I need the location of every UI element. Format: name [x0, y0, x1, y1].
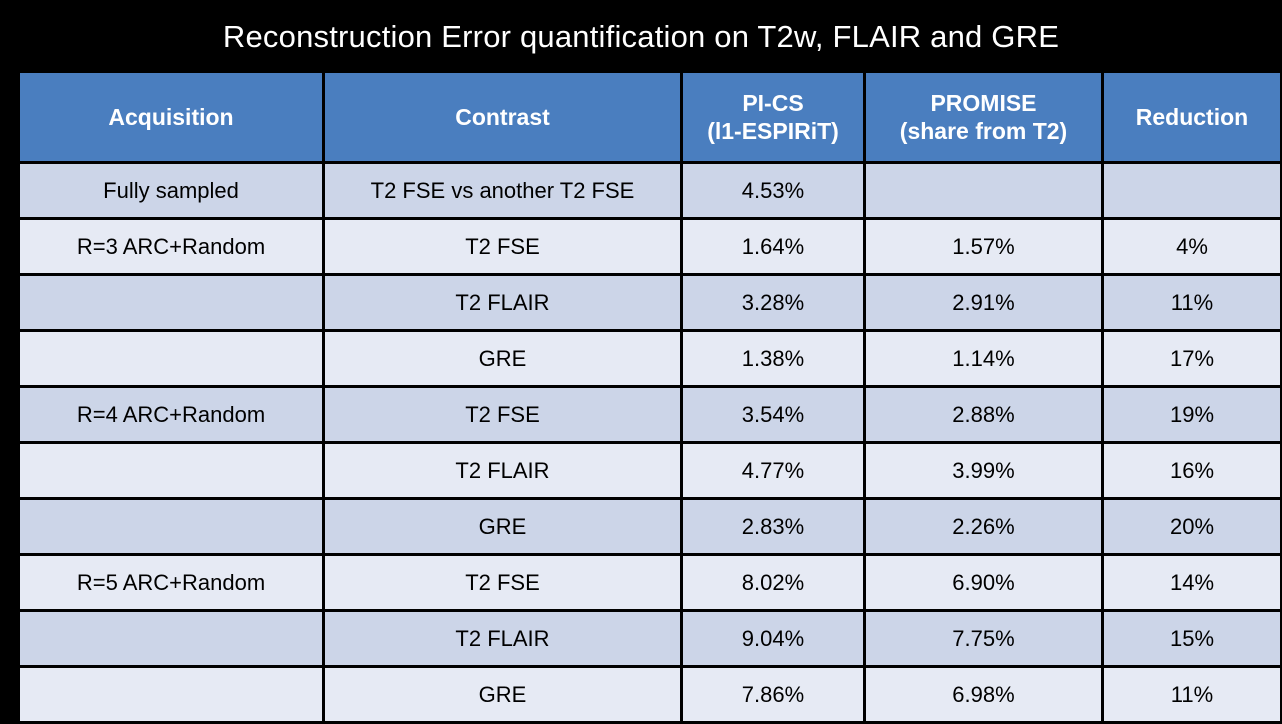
cell-reduction: 14%	[1104, 556, 1280, 609]
column-header-acquisition[interactable]: Acquisition	[20, 73, 322, 161]
column-header-promise-label: PROMISE	[930, 90, 1036, 116]
results-table-container: Acquisition Contrast PI-CS (l1-ESPIRiT) …	[20, 73, 1268, 693]
cell-contrast: T2 FSE	[325, 556, 680, 609]
cell-promise: 7.75%	[866, 612, 1101, 665]
cell-contrast: GRE	[325, 668, 680, 721]
cell-acquisition	[20, 444, 322, 497]
table-row[interactable]: R=4 ARC+Random T2 FSE 3.54% 2.88% 19%	[20, 388, 1280, 441]
table-body: Fully sampled T2 FSE vs another T2 FSE 4…	[20, 164, 1280, 721]
column-header-reduction-label: Reduction	[1136, 104, 1248, 130]
column-header-pics[interactable]: PI-CS (l1-ESPIRiT)	[683, 73, 863, 161]
cell-reduction	[1104, 164, 1280, 217]
cell-reduction: 19%	[1104, 388, 1280, 441]
table-row[interactable]: Fully sampled T2 FSE vs another T2 FSE 4…	[20, 164, 1280, 217]
cell-acquisition	[20, 332, 322, 385]
cell-pics: 7.86%	[683, 668, 863, 721]
table-row[interactable]: T2 FLAIR 9.04% 7.75% 15%	[20, 612, 1280, 665]
cell-reduction: 11%	[1104, 276, 1280, 329]
column-header-reduction[interactable]: Reduction	[1104, 73, 1280, 161]
table-row[interactable]: GRE 2.83% 2.26% 20%	[20, 500, 1280, 553]
cell-acquisition	[20, 276, 322, 329]
cell-acquisition	[20, 500, 322, 553]
cell-contrast: GRE	[325, 332, 680, 385]
column-header-contrast-label: Contrast	[455, 104, 550, 130]
cell-promise: 1.57%	[866, 220, 1101, 273]
cell-promise: 2.88%	[866, 388, 1101, 441]
table-row[interactable]: R=3 ARC+Random T2 FSE 1.64% 1.57% 4%	[20, 220, 1280, 273]
cell-pics: 1.38%	[683, 332, 863, 385]
column-header-promise[interactable]: PROMISE (share from T2)	[866, 73, 1101, 161]
page-title: Reconstruction Error quantification on T…	[0, 18, 1282, 56]
cell-contrast: T2 FLAIR	[325, 444, 680, 497]
cell-acquisition: Fully sampled	[20, 164, 322, 217]
cell-promise: 2.91%	[866, 276, 1101, 329]
column-header-pics-label: PI-CS	[742, 90, 803, 116]
column-header-acquisition-label: Acquisition	[108, 104, 233, 130]
cell-contrast: T2 FSE	[325, 388, 680, 441]
table-row[interactable]: GRE 7.86% 6.98% 11%	[20, 668, 1280, 721]
cell-contrast: T2 FLAIR	[325, 276, 680, 329]
table-row[interactable]: R=5 ARC+Random T2 FSE 8.02% 6.90% 14%	[20, 556, 1280, 609]
cell-promise: 2.26%	[866, 500, 1101, 553]
cell-reduction: 11%	[1104, 668, 1280, 721]
cell-pics: 4.53%	[683, 164, 863, 217]
cell-acquisition	[20, 668, 322, 721]
slide: Reconstruction Error quantification on T…	[0, 0, 1282, 703]
cell-pics: 3.54%	[683, 388, 863, 441]
table-row[interactable]: GRE 1.38% 1.14% 17%	[20, 332, 1280, 385]
table-row[interactable]: T2 FLAIR 4.77% 3.99% 16%	[20, 444, 1280, 497]
column-header-promise-sublabel: (share from T2)	[872, 117, 1095, 145]
cell-pics: 4.77%	[683, 444, 863, 497]
table-header-row: Acquisition Contrast PI-CS (l1-ESPIRiT) …	[20, 73, 1280, 161]
results-table: Acquisition Contrast PI-CS (l1-ESPIRiT) …	[17, 70, 1282, 724]
cell-reduction: 17%	[1104, 332, 1280, 385]
cell-acquisition: R=5 ARC+Random	[20, 556, 322, 609]
cell-acquisition: R=4 ARC+Random	[20, 388, 322, 441]
cell-contrast: T2 FSE	[325, 220, 680, 273]
cell-acquisition: R=3 ARC+Random	[20, 220, 322, 273]
cell-reduction: 4%	[1104, 220, 1280, 273]
cell-pics: 1.64%	[683, 220, 863, 273]
cell-contrast: T2 FLAIR	[325, 612, 680, 665]
cell-acquisition	[20, 612, 322, 665]
cell-pics: 9.04%	[683, 612, 863, 665]
table-header: Acquisition Contrast PI-CS (l1-ESPIRiT) …	[20, 73, 1280, 161]
cell-promise: 3.99%	[866, 444, 1101, 497]
table-row[interactable]: T2 FLAIR 3.28% 2.91% 11%	[20, 276, 1280, 329]
cell-contrast: T2 FSE vs another T2 FSE	[325, 164, 680, 217]
cell-contrast: GRE	[325, 500, 680, 553]
cell-reduction: 20%	[1104, 500, 1280, 553]
cell-promise: 6.98%	[866, 668, 1101, 721]
cell-promise: 6.90%	[866, 556, 1101, 609]
cell-pics: 8.02%	[683, 556, 863, 609]
cell-pics: 2.83%	[683, 500, 863, 553]
cell-reduction: 15%	[1104, 612, 1280, 665]
column-header-pics-sublabel: (l1-ESPIRiT)	[689, 117, 857, 145]
cell-pics: 3.28%	[683, 276, 863, 329]
cell-promise: 1.14%	[866, 332, 1101, 385]
column-header-contrast[interactable]: Contrast	[325, 73, 680, 161]
cell-reduction: 16%	[1104, 444, 1280, 497]
cell-promise	[866, 164, 1101, 217]
